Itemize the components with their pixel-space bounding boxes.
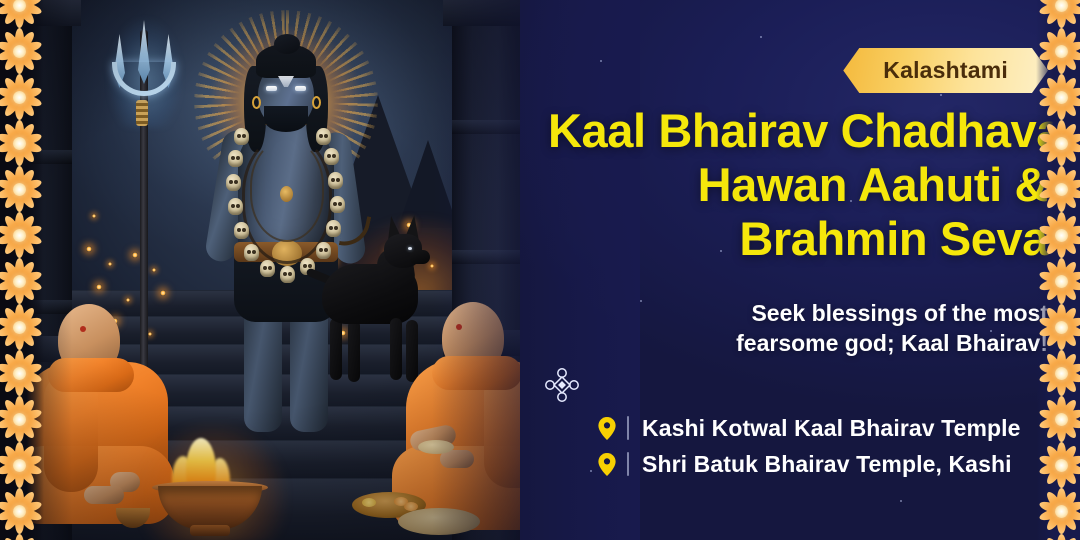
flower-core <box>1055 137 1068 150</box>
flower-core <box>13 367 26 380</box>
flower-core <box>1055 183 1068 196</box>
subtitle-line-1: Seek blessings of the most <box>628 298 1048 328</box>
marigold-flower-icon <box>1038 120 1080 166</box>
flower-core <box>1055 45 1068 58</box>
flower-core <box>1055 0 1068 12</box>
marigold-flower-icon <box>0 304 42 350</box>
subtitle-line-2: fearsome god; Kaal Bhairav! <box>628 328 1048 358</box>
location-separator <box>627 452 629 476</box>
marigold-flower-icon <box>0 488 42 534</box>
flower-core <box>1055 505 1068 518</box>
kalashtami-badge[interactable]: Kalashtami <box>843 48 1048 93</box>
marigold-flower-icon <box>1038 258 1080 304</box>
page-title: Kaal Bhairav Chadhava Hawan Aahuti & Bra… <box>548 104 1048 266</box>
badge-label: Kalashtami <box>883 57 1008 84</box>
flower-core <box>13 45 26 58</box>
flower-core <box>13 0 26 12</box>
flower-core <box>13 505 26 518</box>
marigold-flower-icon <box>0 534 42 540</box>
marigold-flower-icon <box>1038 212 1080 258</box>
flower-core <box>13 137 26 150</box>
flower-core <box>13 183 26 196</box>
flower-core <box>13 321 26 334</box>
map-pin-icon <box>596 415 618 441</box>
marigold-flower-icon <box>1038 0 1080 28</box>
knot-ornament-icon <box>544 368 580 402</box>
flower-core <box>13 413 26 426</box>
flower-core <box>1055 459 1068 472</box>
title-line-3: Brahmin Seva <box>548 212 1048 266</box>
section-divider <box>0 368 560 402</box>
flower-core <box>13 91 26 104</box>
title-line-1: Kaal Bhairav Chadhava <box>548 104 1048 158</box>
location-row[interactable]: Kashi Kotwal Kaal Bhairav Temple <box>596 410 1021 446</box>
map-pin-icon <box>596 451 618 477</box>
promotional-banner: Kalashtami Kaal Bhairav Chadhava Hawan A… <box>0 0 1080 540</box>
flower-core <box>1055 367 1068 380</box>
marigold-flower-icon <box>1038 488 1080 534</box>
marigold-flower-icon <box>0 74 42 120</box>
marigold-flower-icon <box>1038 442 1080 488</box>
marigold-flower-border-right <box>1036 0 1080 540</box>
title-line-2: Hawan Aahuti & <box>548 158 1048 212</box>
marigold-flower-icon <box>0 442 42 488</box>
flower-core <box>13 459 26 472</box>
location-name: Shri Batuk Bhairav Temple, Kashi <box>642 451 1012 478</box>
marigold-flower-icon <box>0 212 42 258</box>
marigold-flower-icon <box>0 166 42 212</box>
flower-core <box>1055 321 1068 334</box>
marigold-flower-icon <box>1038 534 1080 540</box>
flower-petal <box>1057 534 1066 540</box>
location-separator <box>627 416 629 440</box>
flower-core <box>1055 229 1068 242</box>
marigold-flower-icon <box>0 28 42 74</box>
marigold-flower-border-left <box>0 0 44 540</box>
marigold-flower-icon <box>1038 28 1080 74</box>
marigold-flower-icon <box>0 0 42 28</box>
flower-petal <box>15 534 24 540</box>
subtitle: Seek blessings of the most fearsome god;… <box>628 298 1048 358</box>
flower-core <box>13 229 26 242</box>
flower-core <box>13 275 26 288</box>
location-row[interactable]: Shri Batuk Bhairav Temple, Kashi <box>596 446 1021 482</box>
location-name: Kashi Kotwal Kaal Bhairav Temple <box>642 415 1021 442</box>
marigold-flower-icon <box>1038 396 1080 442</box>
marigold-flower-icon <box>0 350 42 396</box>
marigold-flower-icon <box>0 258 42 304</box>
flower-core <box>1055 91 1068 104</box>
flower-core <box>1055 413 1068 426</box>
marigold-flower-icon <box>1038 74 1080 120</box>
location-list: Kashi Kotwal Kaal Bhairav Temple Shri Ba… <box>596 410 1021 482</box>
marigold-flower-icon <box>1038 350 1080 396</box>
marigold-flower-icon <box>0 120 42 166</box>
marigold-flower-icon <box>1038 304 1080 350</box>
marigold-flower-icon <box>1038 166 1080 212</box>
flower-core <box>1055 275 1068 288</box>
marigold-flower-icon <box>0 396 42 442</box>
panel-content: Kalashtami Kaal Bhairav Chadhava Hawan A… <box>0 0 1080 540</box>
